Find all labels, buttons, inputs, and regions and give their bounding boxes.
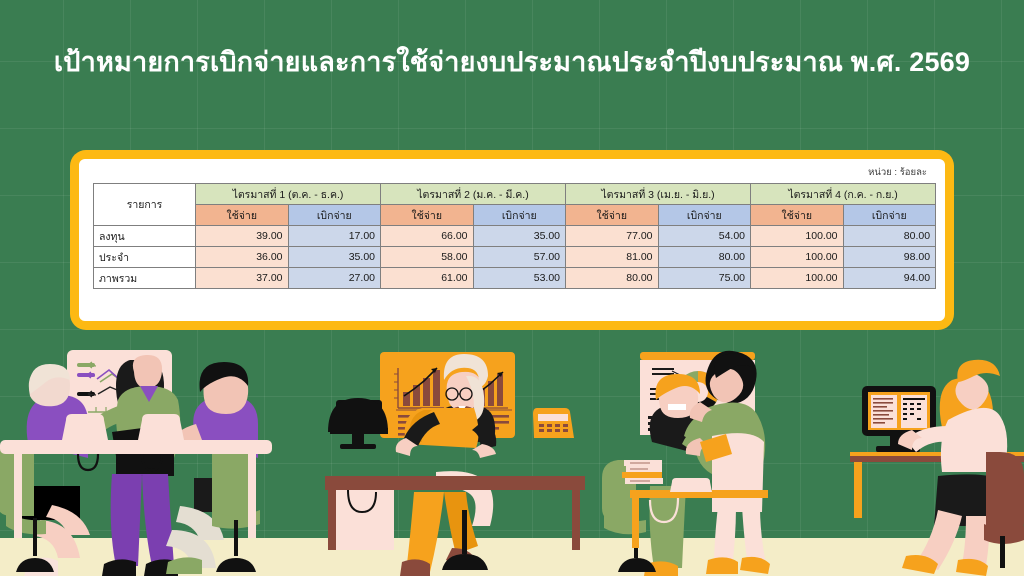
page-title-text: เป้าหมายการเบิกจ่ายและการใช้จ่ายงบประมาณ… (54, 47, 909, 77)
cell-investment-q4-disburse: 80.00 (843, 226, 936, 247)
table-header-row-quarters: รายการ ไตรมาสที่ 1 (ต.ค. - ธ.ค.) ไตรมาสท… (94, 184, 936, 205)
table-row: ประจำ 36.00 35.00 58.00 57.00 81.00 80.0… (94, 247, 936, 268)
column-header-quarter-4: ไตรมาสที่ 4 (ก.ค. - ก.ย.) (751, 184, 936, 205)
cell-recurring-q4-disburse: 98.00 (843, 247, 936, 268)
cell-investment-q4-use: 100.00 (751, 226, 844, 247)
column-header-quarter-3: ไตรมาสที่ 3 (เม.ย. - มิ.ย.) (566, 184, 751, 205)
table-card: หน่วย : ร้อยละ รายการ ไตรมาสที่ 1 (ต.ค. … (79, 159, 945, 321)
cell-investment-q3-use: 77.00 (566, 226, 659, 247)
subheader-q4-disburse: เบิกจ่าย (843, 205, 936, 226)
row-label-overall: ภาพรวม (94, 268, 196, 289)
row-label-recurring: ประจำ (94, 247, 196, 268)
subheader-q3-use: ใช้จ่าย (566, 205, 659, 226)
slide-canvas: เป้าหมายการเบิกจ่ายและการใช้จ่ายงบประมาณ… (0, 0, 1024, 576)
cell-overall-q3-disburse: 75.00 (658, 268, 751, 289)
cell-recurring-q1-use: 36.00 (196, 247, 289, 268)
cell-recurring-q4-use: 100.00 (751, 247, 844, 268)
budget-table: รายการ ไตรมาสที่ 1 (ต.ค. - ธ.ค.) ไตรมาสท… (93, 183, 936, 289)
row-label-investment: ลงทุน (94, 226, 196, 247)
cell-recurring-q3-use: 81.00 (566, 247, 659, 268)
page-title-year: 2569 (909, 47, 970, 77)
cell-recurring-q1-disburse: 35.00 (288, 247, 381, 268)
cell-overall-q1-use: 37.00 (196, 268, 289, 289)
cell-overall-q2-use: 61.00 (381, 268, 474, 289)
cell-overall-q4-disburse: 94.00 (843, 268, 936, 289)
table-header-row-subheaders: ใช้จ่าย เบิกจ่าย ใช้จ่าย เบิกจ่าย ใช้จ่า… (94, 205, 936, 226)
column-header-quarter-1: ไตรมาสที่ 1 (ต.ค. - ธ.ค.) (196, 184, 381, 205)
cell-overall-q4-use: 100.00 (751, 268, 844, 289)
table-card-frame: หน่วย : ร้อยละ รายการ ไตรมาสที่ 1 (ต.ค. … (70, 150, 954, 330)
cell-investment-q1-disburse: 17.00 (288, 226, 381, 247)
table-head: รายการ ไตรมาสที่ 1 (ต.ค. - ธ.ค.) ไตรมาสท… (94, 184, 936, 226)
cell-recurring-q3-disburse: 80.00 (658, 247, 751, 268)
cell-recurring-q2-disburse: 57.00 (473, 247, 566, 268)
table-row: ภาพรวม 37.00 27.00 61.00 53.00 80.00 75.… (94, 268, 936, 289)
unit-note-text: หน่วย : ร้อยละ (868, 167, 927, 178)
column-header-item: รายการ (94, 184, 196, 226)
subheader-q3-disburse: เบิกจ่าย (658, 205, 751, 226)
cell-investment-q2-use: 66.00 (381, 226, 474, 247)
table-row: ลงทุน 39.00 17.00 66.00 35.00 77.00 54.0… (94, 226, 936, 247)
subheader-q2-use: ใช้จ่าย (381, 205, 474, 226)
cell-recurring-q2-use: 58.00 (381, 247, 474, 268)
subheader-q4-use: ใช้จ่าย (751, 205, 844, 226)
cell-investment-q3-disburse: 54.00 (658, 226, 751, 247)
subheader-q1-use: ใช้จ่าย (196, 205, 289, 226)
unit-note: หน่วย : ร้อยละ (93, 166, 931, 180)
cell-overall-q2-disburse: 53.00 (473, 268, 566, 289)
cell-investment-q1-use: 39.00 (196, 226, 289, 247)
column-header-quarter-2: ไตรมาสที่ 2 (ม.ค. - มี.ค.) (381, 184, 566, 205)
cell-overall-q3-use: 80.00 (566, 268, 659, 289)
table-body: ลงทุน 39.00 17.00 66.00 35.00 77.00 54.0… (94, 226, 936, 289)
cell-investment-q2-disburse: 35.00 (473, 226, 566, 247)
subheader-q2-disburse: เบิกจ่าย (473, 205, 566, 226)
page-title: เป้าหมายการเบิกจ่ายและการใช้จ่ายงบประมาณ… (0, 44, 1024, 80)
subheader-q1-disburse: เบิกจ่าย (288, 205, 381, 226)
cell-overall-q1-disburse: 27.00 (288, 268, 381, 289)
